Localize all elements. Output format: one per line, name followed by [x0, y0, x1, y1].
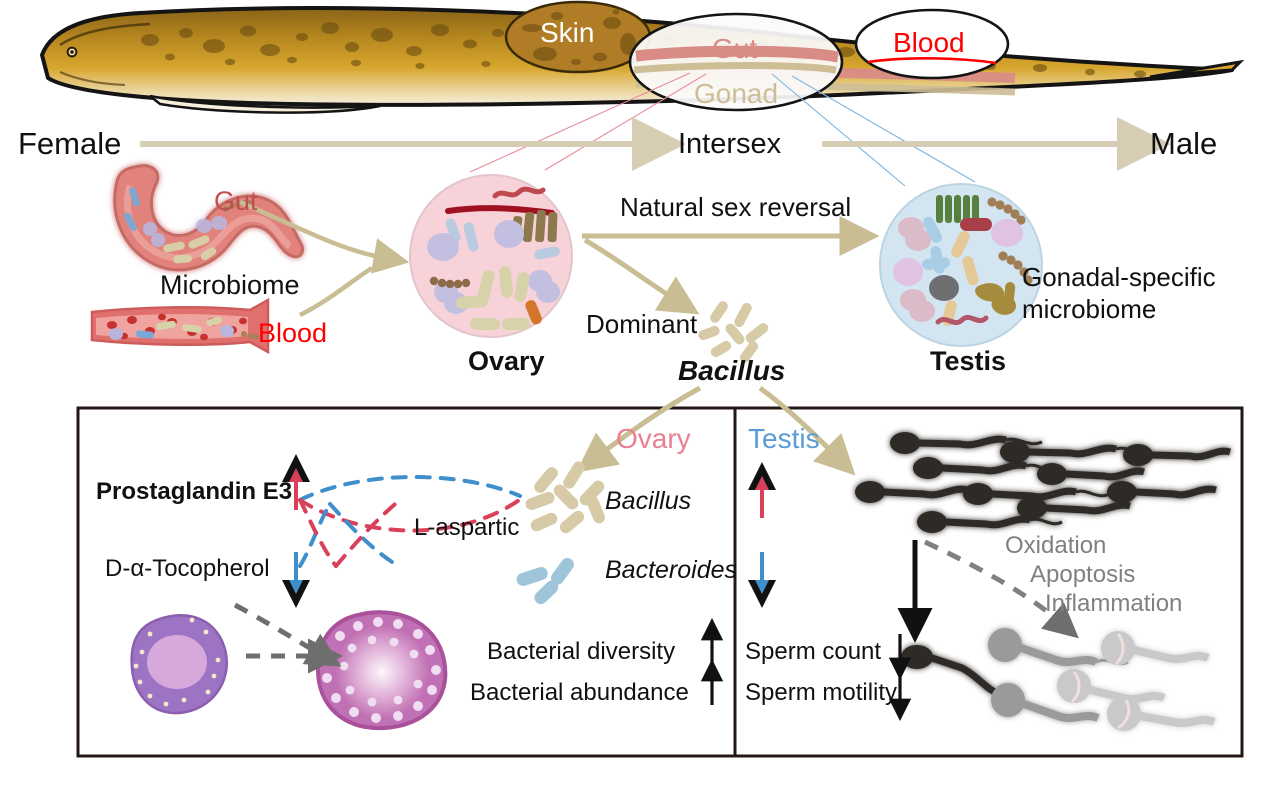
dominant-label: Dominant: [586, 311, 697, 337]
outcome-bacterial-diversity: Bacterial diversity: [487, 640, 675, 664]
outcome-bacterial-abundance: Bacterial abundance: [470, 681, 689, 705]
outcome-sperm-count: Sperm count: [745, 640, 881, 664]
oocyte-immature: [132, 615, 227, 713]
bacillus-cluster-panel: [524, 459, 607, 535]
bacteroides-cluster-panel: [515, 555, 577, 606]
sperm-damaged-cluster: [901, 628, 1214, 731]
sex-stage-female: Female: [18, 128, 121, 159]
taxon-bacteroides: Bacteroides: [605, 558, 737, 583]
metabolite-d-alpha-tocopherol: D-α-Tocopherol: [105, 557, 270, 581]
callout-label-gonad: Gonad: [694, 80, 778, 108]
stress-term-oxidation: Oxidation: [1005, 534, 1106, 558]
bacillus-label: Bacillus: [678, 357, 785, 385]
metabolite-prostaglandin-e3: Prostaglandin E3: [96, 480, 292, 504]
ovary-circle: [410, 175, 572, 337]
microbiome-label: Microbiome: [160, 272, 300, 299]
outcome-sperm-motility: Sperm motility: [745, 681, 897, 705]
callout-label-skin: Skin: [540, 19, 594, 47]
taxon-bacillus: Bacillus: [605, 489, 691, 514]
sex-stage-intersex: Intersex: [678, 130, 781, 159]
sex-stage-male: Male: [1150, 128, 1217, 159]
reversal-arrows: [582, 236, 852, 300]
callout-label-blood: Blood: [893, 29, 965, 57]
natural-sex-reversal-label: Natural sex reversal: [620, 194, 851, 220]
blood-vessel-illustration: [92, 300, 268, 352]
panel-header-ovary: Ovary: [616, 425, 691, 453]
testis-circle: [880, 184, 1042, 346]
oocyte-maturation-arrows: [235, 605, 320, 656]
gut-label: Gut: [214, 188, 258, 215]
stress-term-apoptosis: Apoptosis: [1030, 563, 1135, 587]
sperm-healthy-cluster: [855, 432, 1230, 533]
blood-label: Blood: [258, 320, 327, 347]
metabolite-l-aspartic: L-aspartic: [414, 516, 519, 540]
artwork-layer: [0, 0, 1270, 786]
stress-term-inflammation: Inflammation: [1045, 592, 1182, 616]
callout-label-gut: Gut: [712, 35, 757, 63]
panel-header-testis: Testis: [748, 425, 820, 453]
graphical-abstract: Skin Gut Gonad Blood Female Intersex Mal…: [0, 0, 1270, 786]
oocyte-mature: [318, 612, 445, 728]
ovary-label: Ovary: [468, 348, 545, 375]
testis-label: Testis: [930, 348, 1006, 375]
gonadal-specific-microbiome-label: Gonadal-specific microbiome: [1022, 262, 1216, 325]
